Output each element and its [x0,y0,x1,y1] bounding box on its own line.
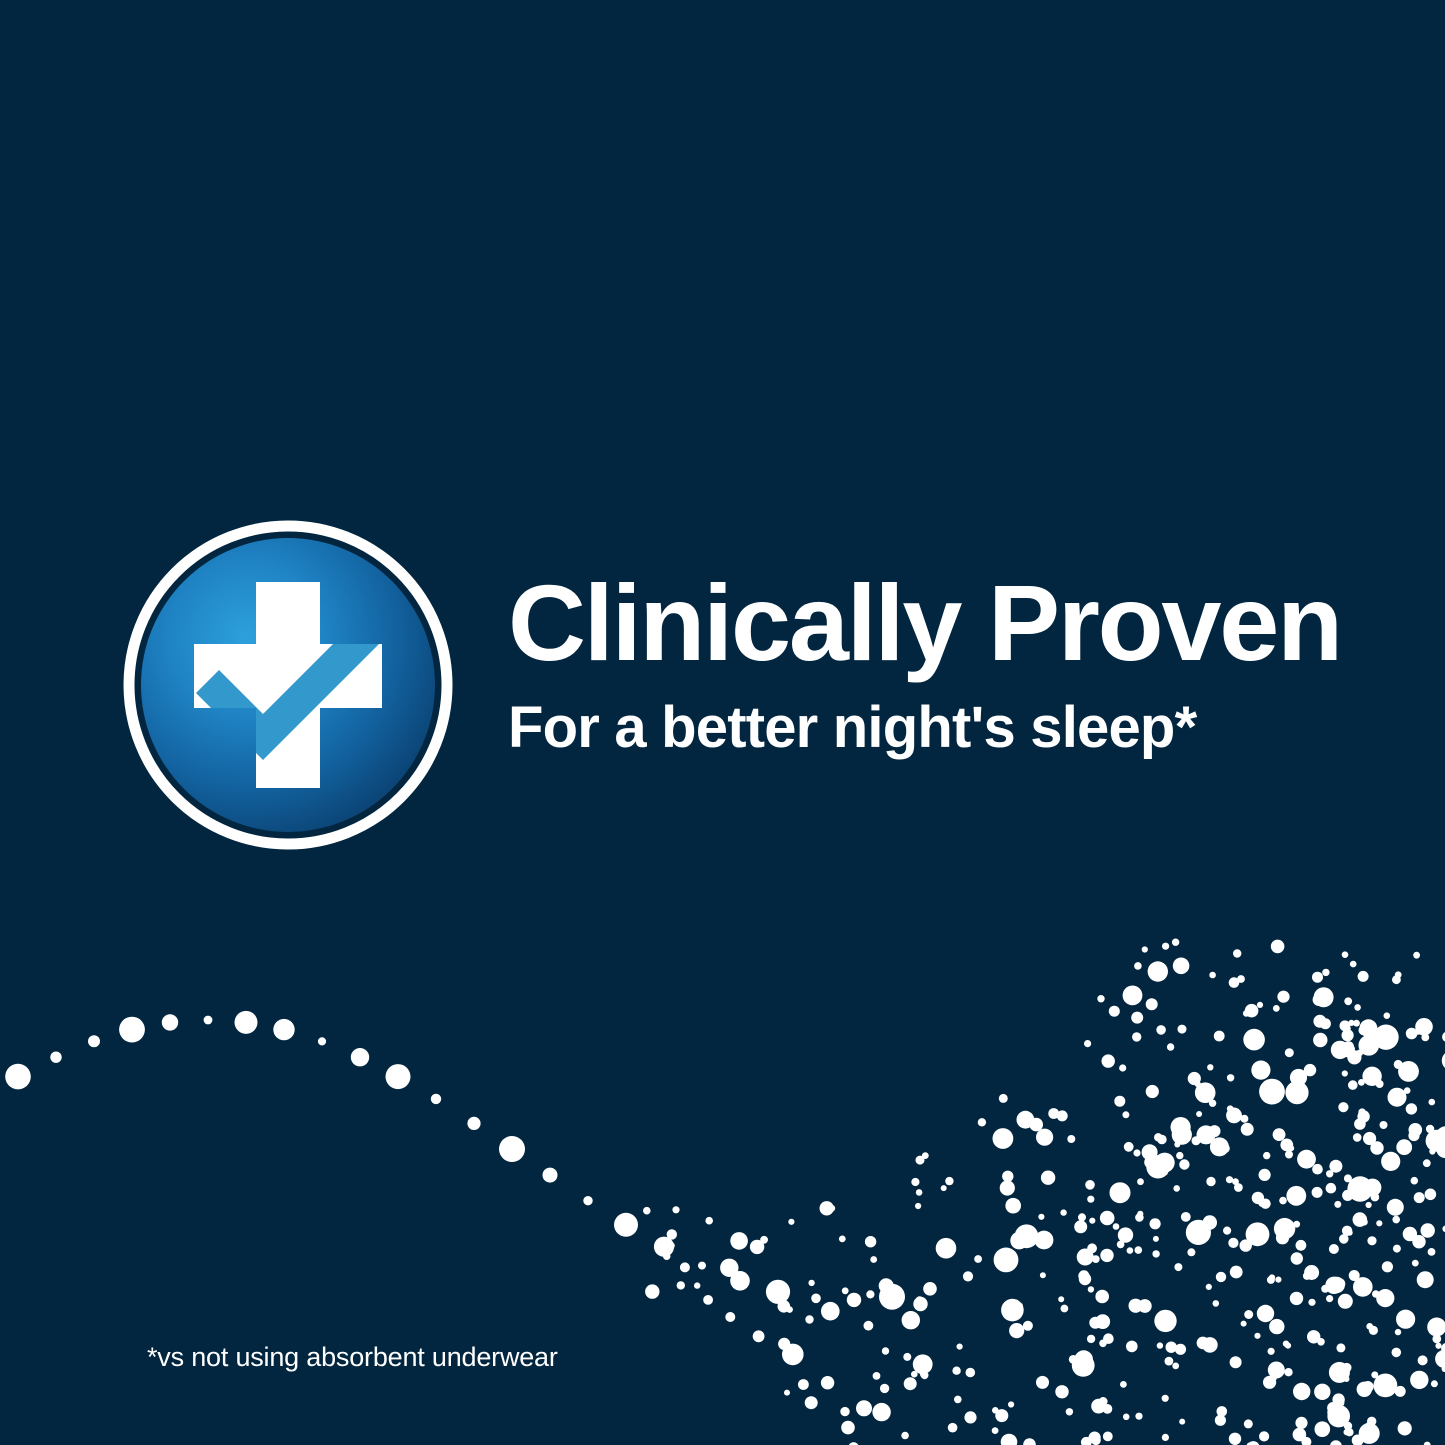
subtitle: For a better night's sleep* [508,677,1388,757]
page-title: Clinically Proven [508,569,1388,677]
promo-banner: Clinically Proven For a better night's s… [0,0,1445,1445]
headline-group: Clinically Proven For a better night's s… [508,569,1388,757]
medical-cross-check-badge [123,520,453,850]
footnote-disclaimer: *vs not using absorbent underwear [147,1341,558,1373]
